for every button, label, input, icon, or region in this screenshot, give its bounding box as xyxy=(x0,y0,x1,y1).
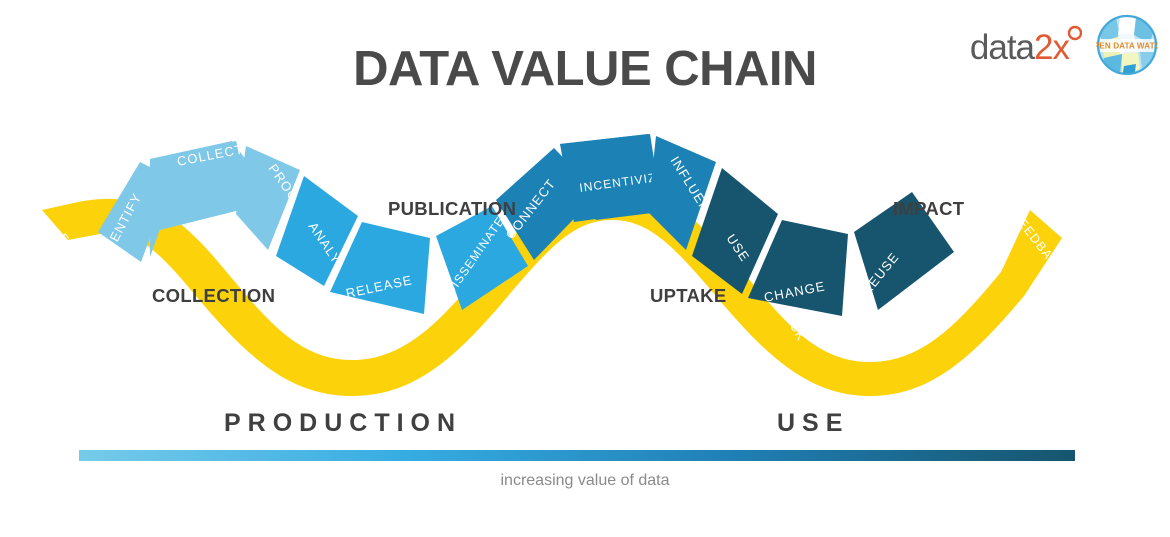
feedback-label-3: FEEDBACK xyxy=(533,270,583,343)
globe-icon: OPEN DATA WATCH xyxy=(1096,14,1158,76)
axis-caption: increasing value of data xyxy=(0,472,1170,490)
section-label-collection: COLLECTION xyxy=(152,285,275,307)
data2x-logo-text-gray: data xyxy=(970,30,1034,65)
section-label-impact: IMPACT xyxy=(893,198,964,220)
value-gradient-bar xyxy=(79,450,1075,461)
open-data-watch-logo: OPEN DATA WATCH xyxy=(1096,14,1158,76)
section-label-uptake: UPTAKE xyxy=(650,285,727,307)
logo-group: data2x OPEN xyxy=(970,14,1158,76)
section-label-publication: PUBLICATION xyxy=(388,198,516,220)
axis-label-production: PRODUCTION xyxy=(224,409,462,438)
data2x-logo-text-orange: 2x xyxy=(1034,30,1069,65)
venus-symbol-icon xyxy=(1066,25,1082,59)
infographic-canvas: DATA VALUE CHAIN data2x xyxy=(0,0,1170,537)
data-value-chain-wave: .segtxt{ fill:#ffffff; font-family:"Libe… xyxy=(0,110,1170,400)
axis-label-use: USE xyxy=(777,409,849,438)
open-data-watch-label: OPEN DATA WATCH xyxy=(1096,42,1158,51)
data2x-logo: data2x xyxy=(970,25,1082,65)
